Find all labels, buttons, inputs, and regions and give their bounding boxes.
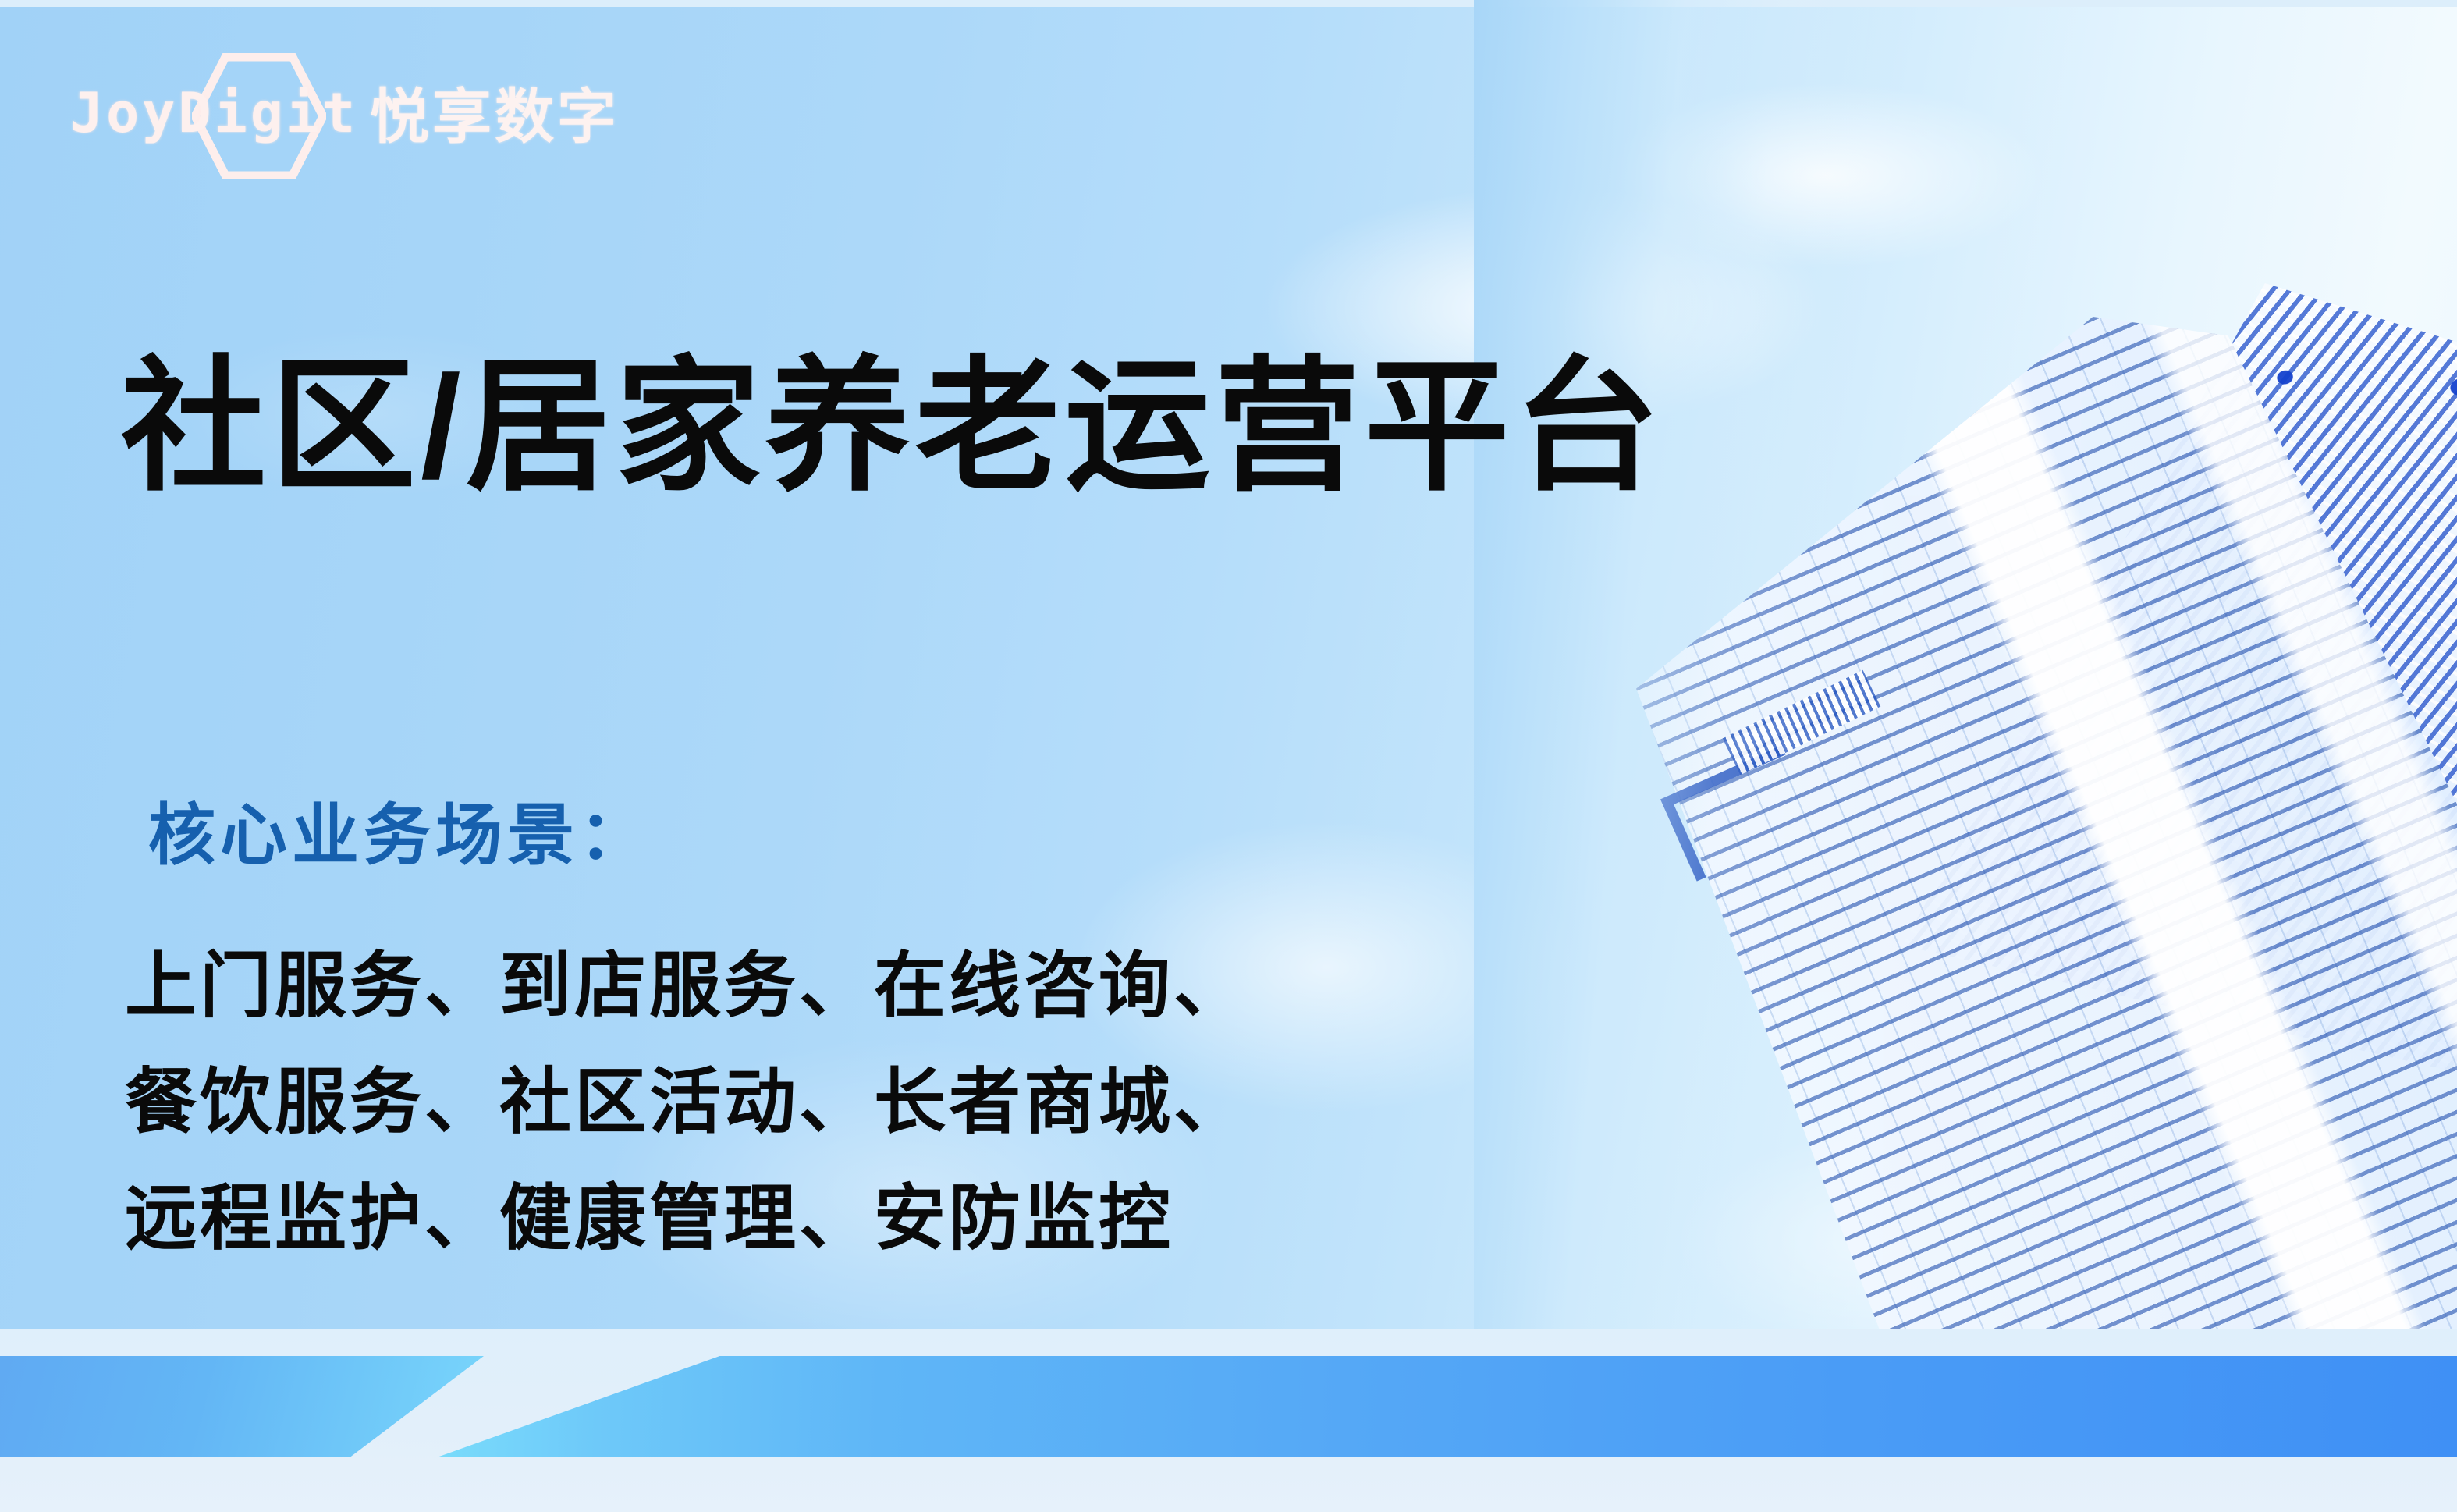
logo-wordmark: JoyDigit xyxy=(70,81,358,145)
sky-background xyxy=(0,0,2457,1512)
scenario-line: 远程监护、健康管理、安防监控 xyxy=(125,1161,1248,1277)
top-edge-strip xyxy=(0,0,2457,7)
section-heading: 核心业务场景： xyxy=(148,780,651,878)
ribbon-left-shape xyxy=(0,1356,484,1457)
ribbon-right-shape xyxy=(437,1356,2457,1457)
logo-chinese-text: 悦享数字 xyxy=(370,69,620,154)
ribbon-band xyxy=(0,1356,2457,1457)
slide-root: JoyDigit 悦享数字 社区/居家养老运营平台 核心业务场景： 上门服务、到… xyxy=(0,0,2457,1512)
scenario-list: 上门服务、到店服务、在线咨询、 餐饮服务、社区活动、长者商城、 远程监护、健康管… xyxy=(125,928,1248,1277)
logo-mark: JoyDigit xyxy=(140,37,343,186)
scenario-line: 上门服务、到店服务、在线咨询、 xyxy=(125,928,1248,1045)
brand-logo[interactable]: JoyDigit 悦享数字 xyxy=(140,37,620,186)
page-title: 社区/居家养老运营平台 xyxy=(121,355,1664,500)
footer-ribbon xyxy=(0,1329,2457,1512)
scenario-line: 餐饮服务、社区活动、长者商城、 xyxy=(125,1045,1248,1161)
